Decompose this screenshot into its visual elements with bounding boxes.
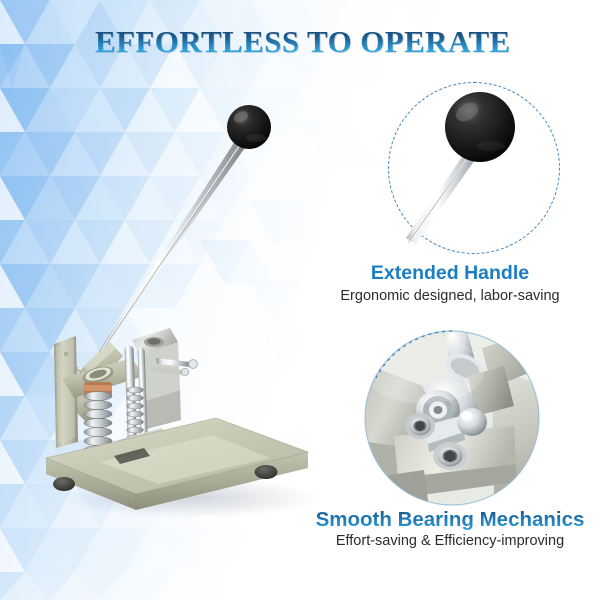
handle-assembly [96,105,271,358]
rubber-foot-left [53,477,75,491]
hex-socket-screw-upper [405,413,435,439]
features-column: Extended Handle Ergonomic designed, labo… [300,0,600,600]
feature-subtitle-smooth-bearing: Effort-saving & Efficiency-improving [300,533,600,549]
feature-title-smooth-bearing: Smooth Bearing Mechanics [300,508,600,532]
handle-knob [227,105,271,149]
feature-subtitle-extended-handle: Ergonomic designed, labor-saving [300,288,600,304]
callout-handle-illustration [388,82,560,254]
hex-socket-screw-lower [433,442,467,470]
callout-bearing-illustration [364,330,540,506]
product-image-corner-rounder [40,90,330,530]
feature-title-extended-handle: Extended Handle [300,262,600,285]
product-feature-banner: EFFORTLESS TO OPERATE EFFORTLESS TO OPER… [0,0,600,600]
rubber-foot-right [255,465,278,479]
